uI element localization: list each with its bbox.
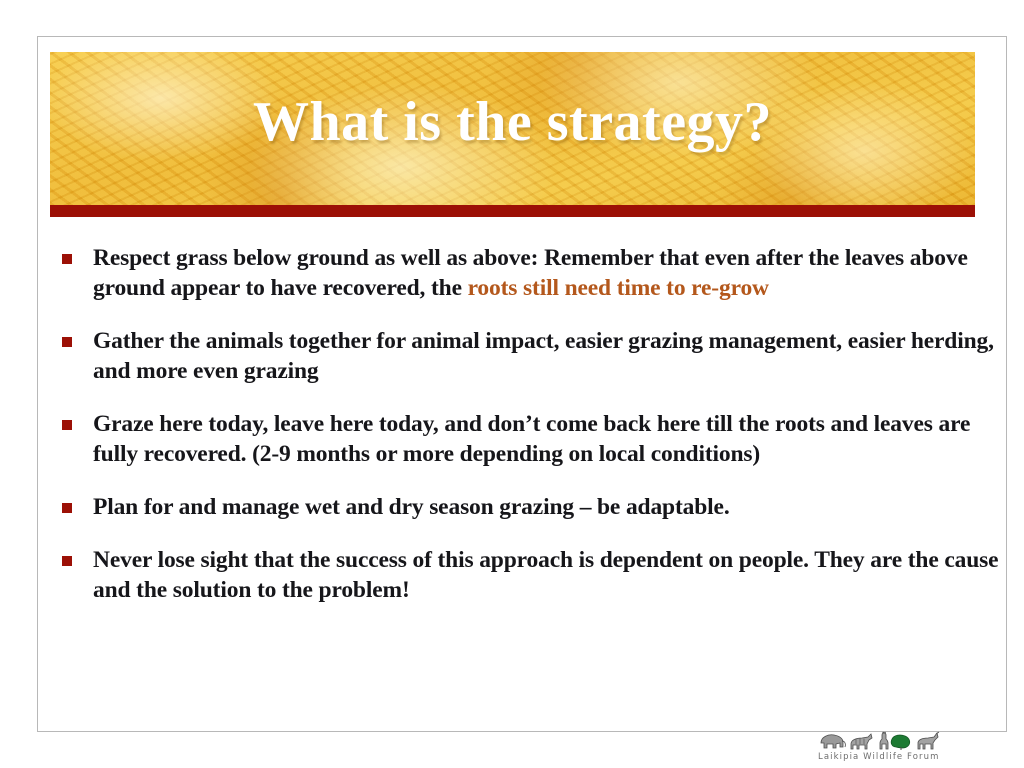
plain-text: Never lose sight that the success of thi… [93, 547, 998, 603]
list-item-text: Graze here today, leave here today, and … [93, 409, 1012, 469]
list-item: Never lose sight that the success of thi… [60, 545, 1012, 605]
acacia-tree-icon [891, 735, 909, 750]
list-item: Plan for and manage wet and dry season g… [60, 492, 1012, 522]
zebra-icon [851, 734, 872, 749]
logo-animals-icon [818, 731, 958, 751]
list-item: Graze here today, leave here today, and … [60, 409, 1012, 469]
title-underline-rule [50, 205, 975, 217]
title-banner: What is the strategy? [50, 52, 975, 205]
bullet-square-icon [62, 420, 72, 430]
bullet-list: Respect grass below ground as well as ab… [60, 243, 1012, 605]
giraffe-icon [880, 732, 888, 749]
plain-text: Plan for and manage wet and dry season g… [93, 494, 730, 520]
bullet-square-icon [62, 337, 72, 347]
list-item-text: Respect grass below ground as well as ab… [93, 243, 1012, 303]
bullet-square-icon [62, 556, 72, 566]
elephant-icon [821, 735, 845, 748]
bullet-square-icon [62, 254, 72, 264]
slide-canvas: What is the strategy? Respect grass belo… [0, 0, 1024, 768]
page-title: What is the strategy? [50, 90, 975, 154]
antelope-icon [918, 732, 939, 749]
plain-text: Gather the animals together for animal i… [93, 328, 994, 384]
list-item-text: Plan for and manage wet and dry season g… [93, 492, 1012, 522]
plain-text: Graze here today, leave here today, and … [93, 411, 970, 467]
emphasized-text: roots still need time to re-grow [468, 275, 769, 301]
logo-caption: Laikipia Wildlife Forum [818, 752, 968, 763]
list-item: Respect grass below ground as well as ab… [60, 243, 1012, 303]
list-item-text: Never lose sight that the success of thi… [93, 545, 1012, 605]
bullet-square-icon [62, 503, 72, 513]
list-item: Gather the animals together for animal i… [60, 326, 1012, 386]
organization-logo: Laikipia Wildlife Forum [818, 731, 968, 765]
list-item-text: Gather the animals together for animal i… [93, 326, 1012, 386]
